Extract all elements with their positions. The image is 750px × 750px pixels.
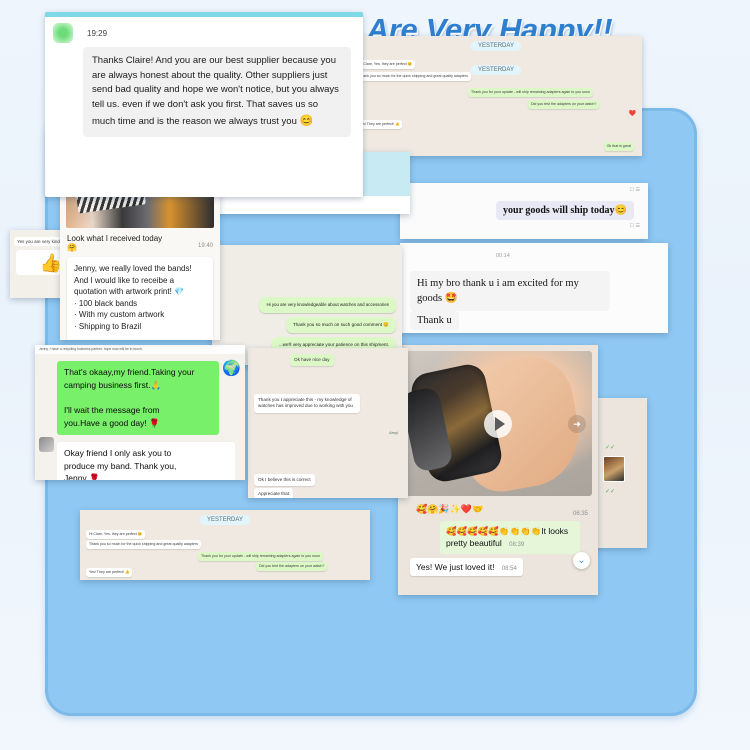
chat-message: Yes! We just loved it! xyxy=(416,562,494,572)
chat-header: 19:29 xyxy=(45,17,363,43)
chat-message: Did you test the adapters on your watch? xyxy=(528,100,599,109)
play-icon[interactable] xyxy=(484,410,512,438)
screenshot-watch-video-chat[interactable]: ➜ 🥰🤗🎉✨❤️🤝 06:35 🥰🥰🥰🥰🥰👏👏👏👏It looks pretty… xyxy=(398,345,598,595)
video-message[interactable] xyxy=(404,351,592,496)
avatar xyxy=(39,437,54,452)
chat-message: Thank you so much for the quick shipping… xyxy=(86,540,201,549)
chat-message: Thank you so much on such good comment 😊 xyxy=(286,317,396,333)
timestamp: 08:54 xyxy=(502,566,517,572)
screenshot-niceday-chat[interactable]: Ok have nice day Thank you I appreciate … xyxy=(248,348,408,498)
quote-line: And I would like to receibe a xyxy=(74,276,174,285)
chat-line: That's okaay,my friend.Taking your xyxy=(64,367,194,377)
hug-emoji-icon: 🤗 xyxy=(67,243,77,252)
photo-caption: Look what I received today xyxy=(67,234,213,243)
chat-bubble-bro-2: Thank u xyxy=(410,311,459,330)
chat-message: 🥰🥰🥰🥰🥰👏👏👏👏It looks pretty beautiful xyxy=(446,526,568,548)
side-label: Amyl xyxy=(389,430,398,435)
chat-line: Jenny 🌹 xyxy=(64,473,100,480)
timestamp: 19:29 xyxy=(87,29,107,38)
avatar xyxy=(53,23,73,43)
quote-line: · Shipping to Brazil xyxy=(74,322,141,331)
chat-message: Hi you are very knowledgeable about watc… xyxy=(259,297,396,313)
timestamp: 06:35 xyxy=(573,511,588,517)
chat-message: Ok have nice day xyxy=(290,354,334,366)
chat-message: Thank u xyxy=(417,315,452,326)
chat-message: Hi Clare, Yes, they are perfect 😊 xyxy=(86,530,145,539)
screenshot-ship-today[interactable]: ☐ ☰ your goods will ship today😊 ☐ ☰ xyxy=(400,183,648,239)
quote-line: · With my custom artwork xyxy=(74,310,164,319)
chat-line: Okay friend I only ask you to xyxy=(64,448,171,458)
chat-bubble-green: That's okaay,my friend.Taking your campi… xyxy=(57,361,219,435)
day-divider: YESTERDAY xyxy=(471,65,521,75)
screenshot-okaay-chat[interactable]: Jenny, I have a recycling business partn… xyxy=(35,345,245,480)
chat-bubble-ship: your goods will ship today😊 xyxy=(496,201,634,220)
chat-line: camping business first.🙏 xyxy=(64,380,161,390)
chat-bubble-quote: Jenny, we really loved the bands! And I … xyxy=(67,257,213,340)
image-thumbnail[interactable] xyxy=(603,456,625,482)
reaction-heart-icon: ❤️ xyxy=(629,110,636,117)
globe-sticker-icon: 🌍 xyxy=(222,359,241,377)
chat-message: Thank you for your update - will ship re… xyxy=(198,552,323,561)
scroll-down-icon[interactable]: ⌄ xyxy=(573,552,590,569)
star-struck-emoji-icon: 🤩 xyxy=(445,293,458,304)
chat-line: you.Have a good day! 🌹 xyxy=(64,418,160,428)
chat-preview-strip: Jenny, I have a recycling business partn… xyxy=(35,345,245,354)
status-badge: ☐ ☰ xyxy=(630,187,640,193)
chat-message: Hi my bro thank u i am excited for my go… xyxy=(417,278,579,304)
chat-bubble-white: Okay friend I only ask you to produce my… xyxy=(57,442,235,480)
chat-bubble-main: Thanks Claire! And you are our best supp… xyxy=(83,47,351,137)
quote-line: · 100 black bands xyxy=(74,299,137,308)
day-divider: YESTERDAY xyxy=(200,515,250,525)
timestamp: 08:39 xyxy=(509,542,524,548)
screenshot-main-testimonial[interactable]: 19:29 Thanks Claire! And you are our bes… xyxy=(45,12,363,197)
chat-message: Did you test the adapters on your watch? xyxy=(256,562,327,571)
smile-emoji-icon: 😊 xyxy=(300,115,314,127)
screenshot-adapters-chat-bottom[interactable]: YESTERDAY Hi Clare, Yes, they are perfec… xyxy=(80,510,370,580)
smile-emoji-icon: 😊 xyxy=(615,205,627,216)
screenshot-bro-chat[interactable]: 00:14 Hi my bro thank u i am excited for… xyxy=(400,243,668,333)
chat-message: Ok that is great xyxy=(604,142,634,151)
quote-line: quotation with artwork print! 💎 xyxy=(74,287,184,296)
chat-bubble-green: 🥰🥰🥰🥰🥰👏👏👏👏It looks pretty beautiful 08:39 xyxy=(440,521,580,554)
chat-message: Thank you for your update - will ship re… xyxy=(468,88,593,97)
chat-message: your goods will ship today xyxy=(503,205,615,216)
status-badge: ☐ ☰ xyxy=(630,223,640,229)
chat-message: Thank you I appreciate this - my knowled… xyxy=(254,394,360,413)
check-icon: ✓✓ xyxy=(605,444,615,451)
reaction-emojis: 🥰🤗🎉✨❤️🤝 xyxy=(416,504,483,515)
chat-bubble-white: Yes! We just loved it! 08:54 xyxy=(410,558,523,576)
day-divider: YESTERDAY xyxy=(471,41,521,51)
chat-message: Thank you so much for the quick shipping… xyxy=(356,72,471,81)
chat-message: Appreciate that xyxy=(254,488,293,498)
screenshot-adapters-chat-top[interactable]: YESTERDAY Hi Clare, Yes, they are perfec… xyxy=(350,36,642,156)
chat-message: Yes you are very kind xyxy=(14,237,63,246)
chat-line: I'll wait the message from xyxy=(64,405,160,415)
chat-message: Ok I believe this is correct xyxy=(254,474,315,486)
chat-bubble-bro-1: Hi my bro thank u i am excited for my go… xyxy=(410,271,610,311)
timestamp: 00:14 xyxy=(496,253,510,259)
forward-icon[interactable]: ➜ xyxy=(568,415,586,433)
quote-line: Jenny, we really loved the bands! xyxy=(74,264,192,273)
chat-message: Hi Clare, Yes, they are perfect 😊 xyxy=(356,60,415,69)
chat-line: produce my band. Thank you, xyxy=(64,461,176,471)
check-icon: ✓✓ xyxy=(605,488,615,495)
timestamp: 19:40 xyxy=(198,243,213,252)
chat-message: Yes! They are perfect! 👍 xyxy=(86,568,132,577)
